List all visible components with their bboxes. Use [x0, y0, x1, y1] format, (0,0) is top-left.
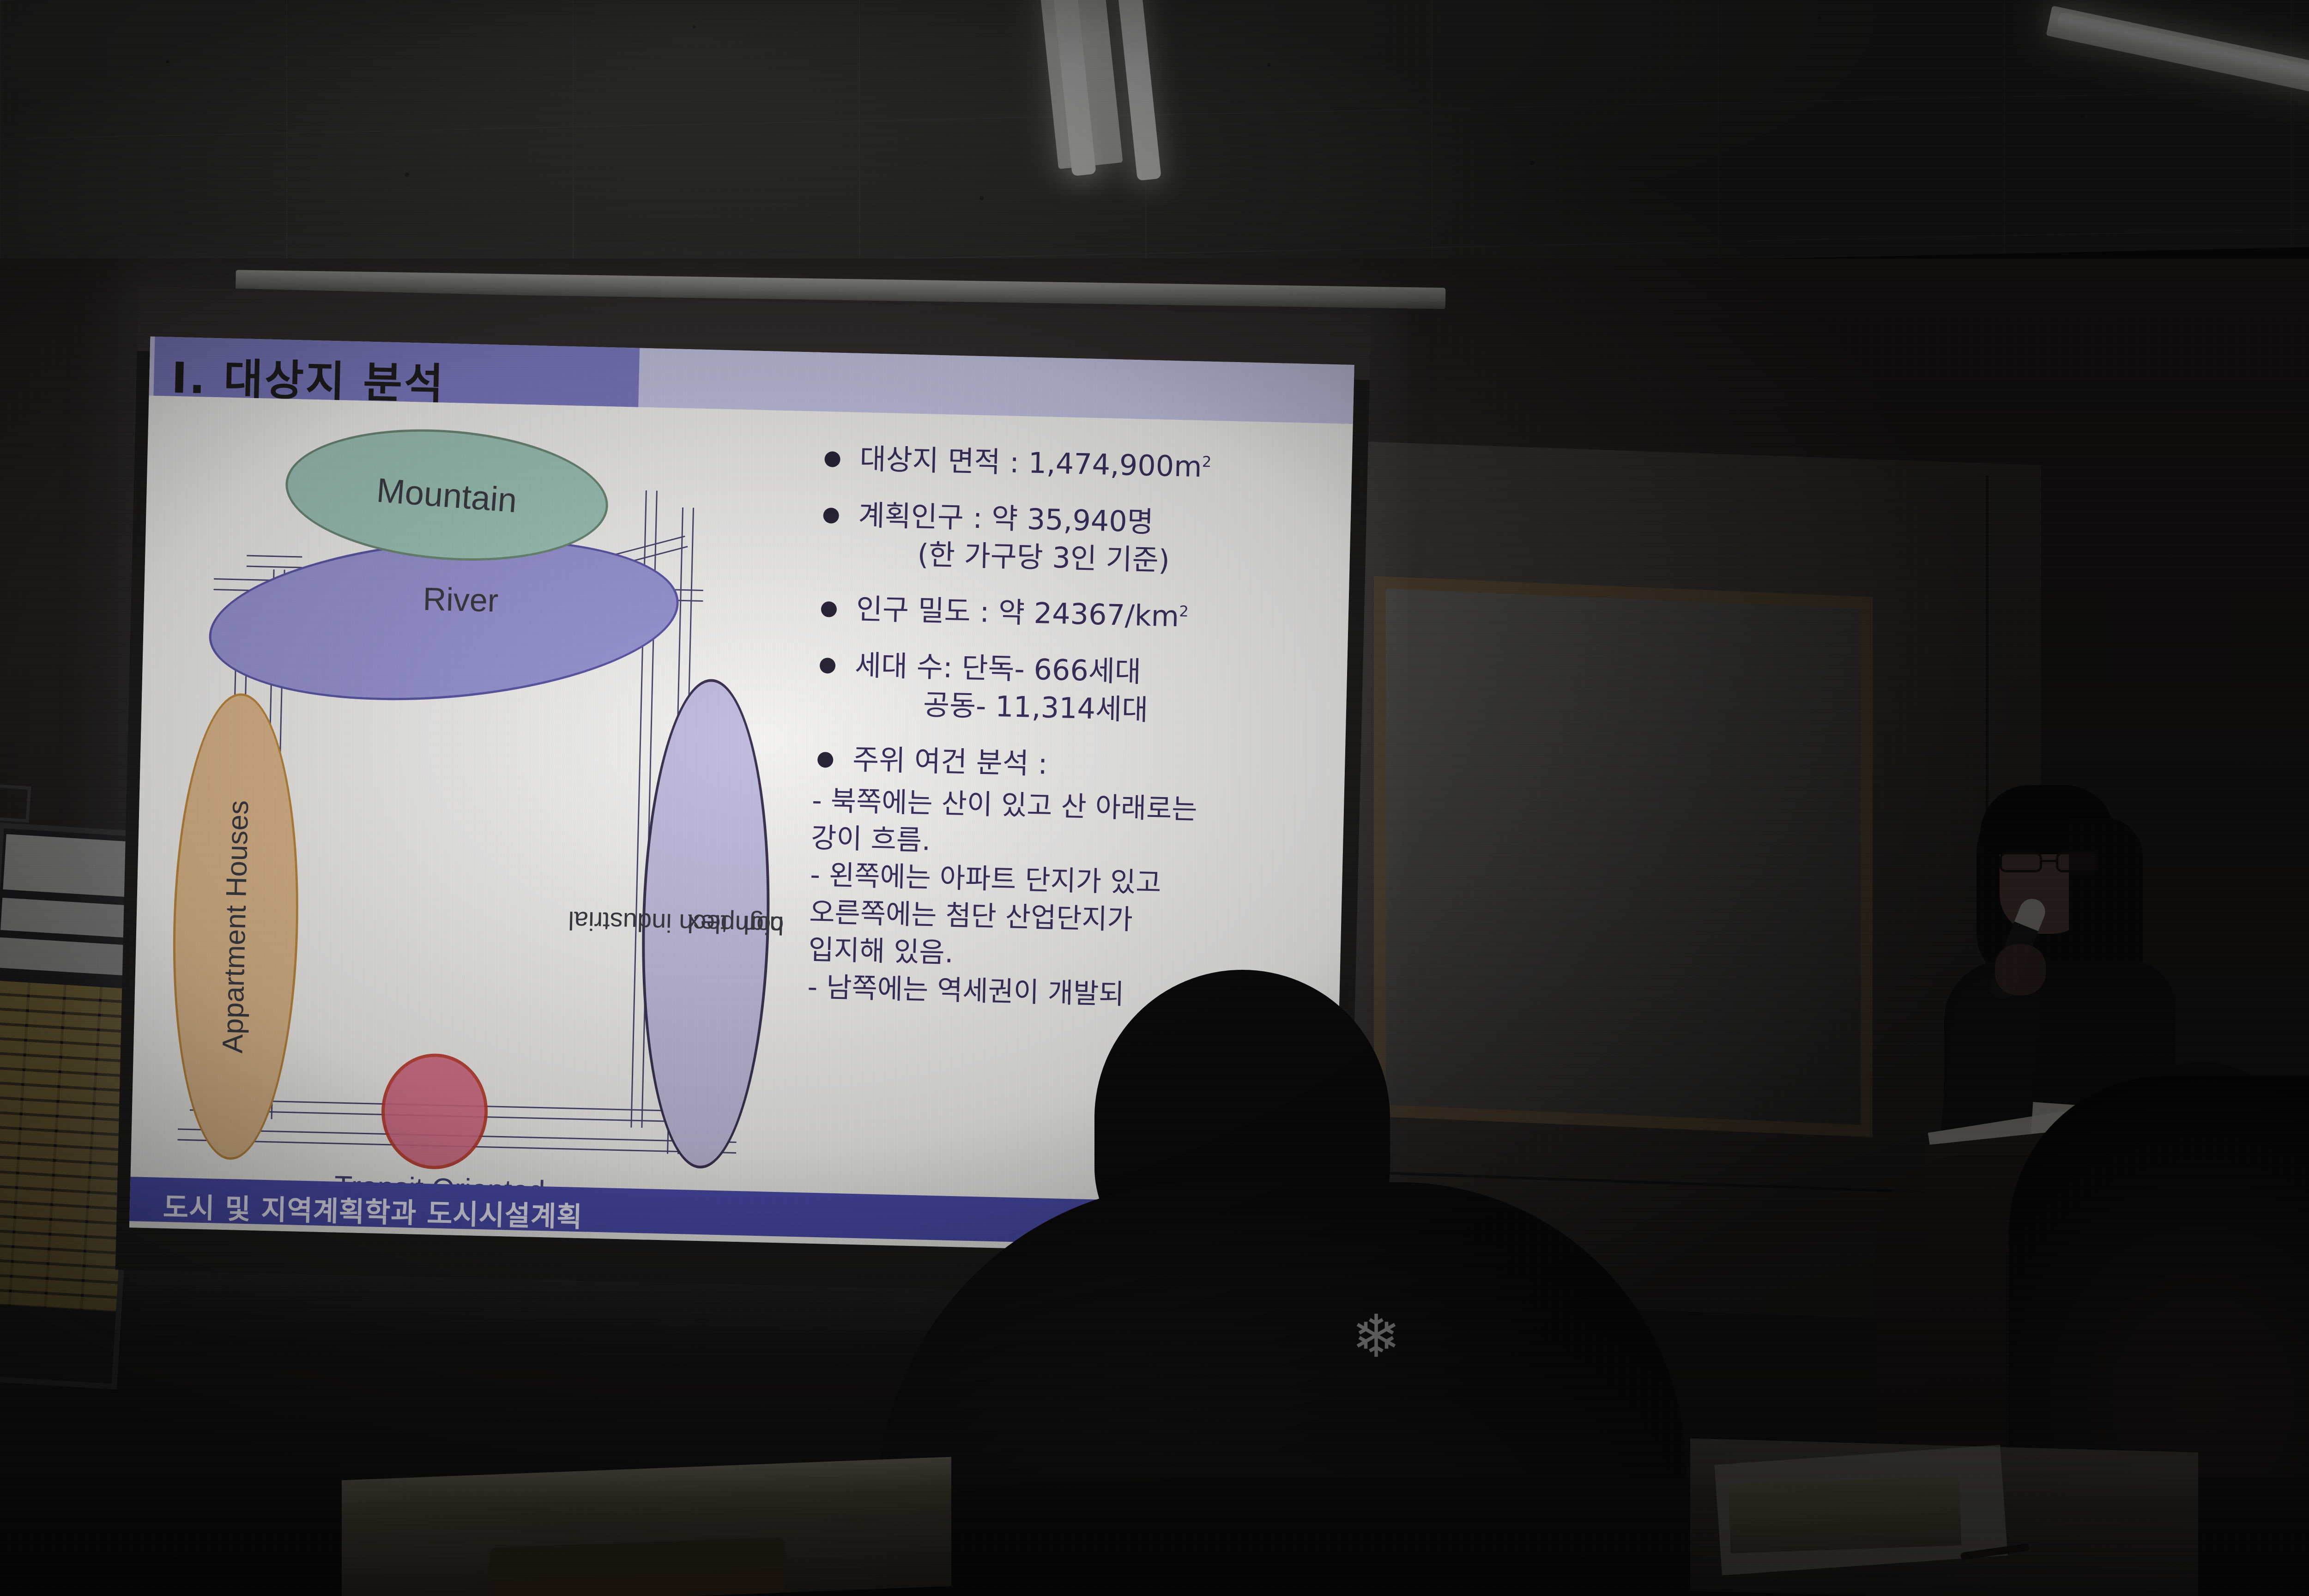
high-tech-label-line2: complex [628, 907, 844, 942]
site-diagram: Mountain River Appartment Houses high te… [163, 415, 795, 1209]
bullet-population-density: 인구 밀도 : 약 24367/km2 [813, 589, 1336, 639]
box-on-table [1729, 1476, 1962, 1553]
board-notice-2 [0, 898, 141, 938]
bullet-household-count-sub: 공동- 11,314세대 [853, 684, 1334, 733]
glasses-lens-left [2000, 852, 2042, 872]
bullet-population-density-text: 인구 밀도 : 약 24367/km [856, 592, 1179, 633]
chair-back [490, 1537, 785, 1596]
mountain-label: Mountain [375, 470, 519, 520]
bullet-planned-population: 계획인구 : 약 35,940명 (한 가구당 3인 기준) [815, 496, 1338, 583]
transit-oriented-circle [380, 1052, 489, 1170]
bullet-household-count-text: 세대 수: 단독- 666세대 [854, 648, 1142, 689]
wall-sign-small [0, 784, 31, 822]
bullet-site-area-text: 대상지 면적 : 1,474,900m [859, 442, 1203, 484]
river-label: River [423, 580, 499, 619]
slide-bullet-list: 대상지 면적 : 1,474,900m2 계획인구 : 약 35,940명 (한… [804, 439, 1340, 1019]
apartment-houses-ellipse: Appartment Houses [168, 692, 304, 1161]
presenter-hand [1995, 944, 2046, 995]
bullet-planned-population-sub: (한 가구당 3인 기준) [857, 534, 1337, 583]
bullet-site-area: 대상지 면적 : 1,474,900m2 [817, 439, 1340, 489]
presenter-glasses [2000, 852, 2099, 872]
bullet-population-density-superscript: 2 [1179, 603, 1189, 620]
high-tech-complex-ellipse: high tech industrial complex [636, 677, 775, 1170]
snowflake-icon: ❄ [1348, 1312, 1404, 1367]
bullet-household-count: 세대 수: 단독- 666세대 공동- 11,314세대 [811, 646, 1335, 733]
high-tech-complex-label: high tech industrial complex [659, 815, 753, 1033]
apartment-houses-label: Appartment Houses [216, 800, 255, 1053]
glasses-bridge [2042, 860, 2056, 862]
board-notice-1 [3, 834, 145, 898]
bullet-site-area-superscript: 2 [1202, 453, 1211, 471]
bullet-surrounding-analysis: 주위 여건 분석 : [810, 740, 1332, 790]
road-stub-top-left [247, 555, 302, 568]
glasses-lens-right [2056, 852, 2098, 872]
bullet-surrounding-analysis-heading: 주위 여건 분석 : [852, 743, 1048, 781]
slide-footer-text: 도시 및 지역계획학과 도시시설계획 [163, 1185, 583, 1235]
board-notice-3 [0, 937, 139, 976]
photo-scene: Ⅰ. 대상지 분석 [0, 0, 2309, 1596]
bullet-planned-population-text: 계획인구 : 약 35,940명 [858, 498, 1154, 539]
